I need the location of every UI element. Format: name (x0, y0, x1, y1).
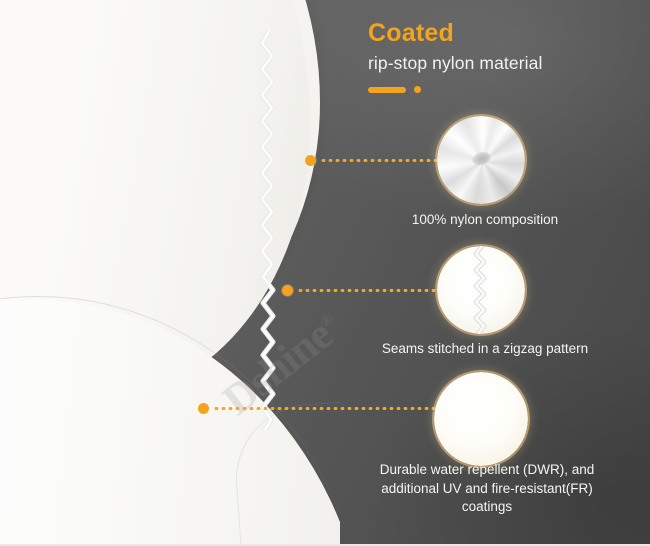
product-feature-infographic: Dshine® Coated rip-stop nylon material 1… (0, 0, 650, 546)
heading-rule (368, 86, 638, 93)
swatch-zigzag-stitch (437, 246, 525, 334)
connector-zigzag-seams (282, 285, 440, 296)
product-zigzag-seam (250, 30, 284, 430)
swatch-swirled-nylon-fabric (437, 116, 525, 204)
product-photo (0, 0, 340, 546)
plain-fabric-texture (434, 372, 528, 466)
heading-block: Coated rip-stop nylon material (368, 20, 638, 93)
swirl-shading (437, 116, 525, 204)
connector-dotted-line (213, 407, 436, 410)
callout-caption-dwr-coatings: Durable water repellent (DWR), and addit… (363, 461, 611, 517)
connector-dot-icon (282, 285, 293, 296)
callout-caption-nylon-composition: 100% nylon composition (370, 211, 600, 230)
heading-subtitle: rip-stop nylon material (368, 53, 638, 75)
zigzag-stitch-texture (437, 246, 525, 334)
connector-dot-icon (305, 155, 316, 166)
heading-title: Coated (368, 20, 638, 48)
connector-dotted-line (320, 159, 440, 162)
rule-bar (368, 87, 406, 93)
rule-dot (414, 86, 421, 93)
connector-dwr-coatings (198, 403, 436, 414)
callout-caption-zigzag-seams: Seams stitched in a zigzag pattern (360, 340, 610, 359)
swatch-plain-coated-fabric (434, 372, 528, 466)
connector-dotted-line (297, 289, 440, 292)
connector-dot-icon (198, 403, 209, 414)
connector-nylon-composition (305, 155, 440, 166)
